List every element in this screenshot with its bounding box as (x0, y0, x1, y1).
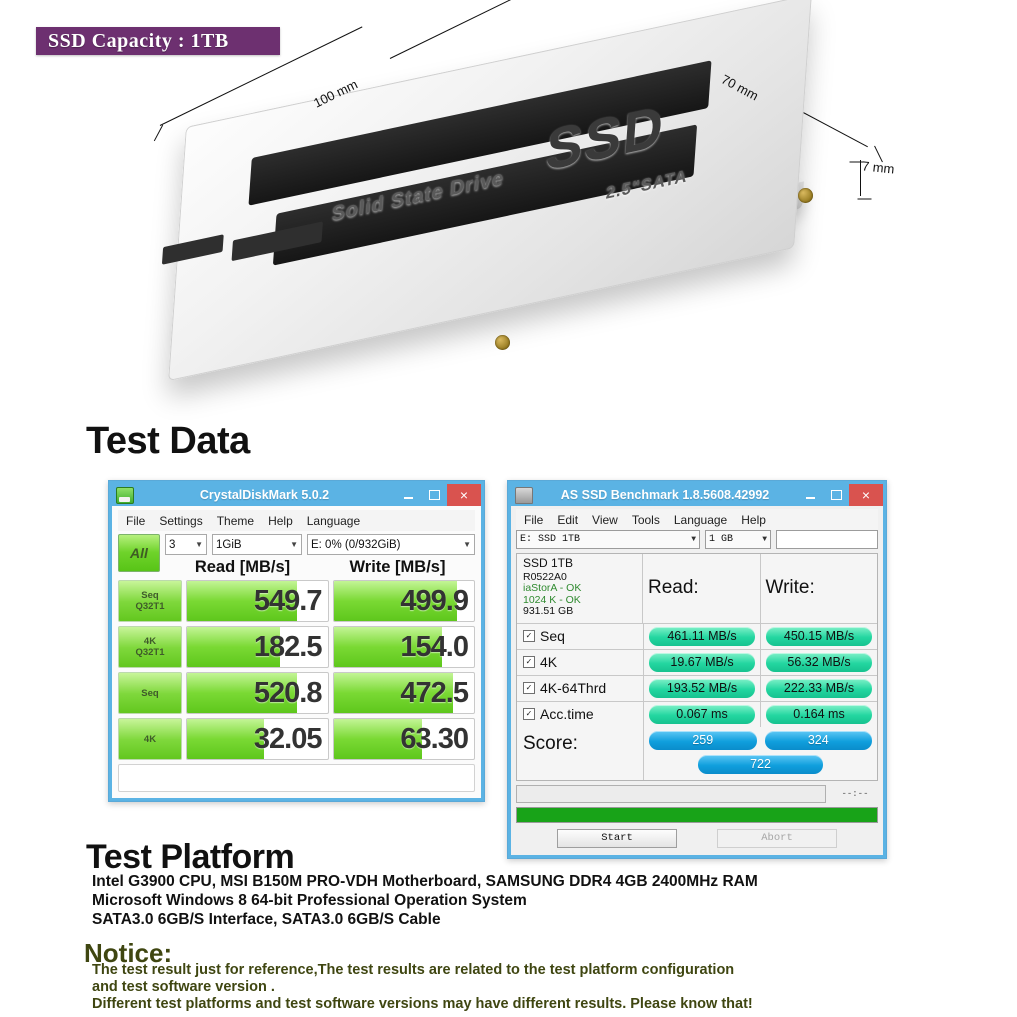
assd-write-bar: 222.33 MB/s (766, 679, 872, 698)
cdm-all-button[interactable]: All (118, 534, 160, 572)
assd-test-name: 4K (540, 654, 557, 670)
cdm-menu-language[interactable]: Language (307, 514, 360, 528)
dimension-tick-6 (858, 199, 872, 200)
assd-footer: --:-- (516, 785, 878, 803)
cdm-minimize-icon[interactable] (395, 484, 421, 506)
product-detail-page: SSD Capacity : 1TB Solid State Drive SSD… (0, 0, 1017, 1017)
cdm-window-buttons: × (395, 484, 481, 506)
cdm-runs-value: 3 (169, 539, 175, 551)
assd-window-frame: AS SSD Benchmark 1.8.5608.42992 × File E… (508, 481, 886, 858)
cdm-size-value: 1GiB (216, 539, 242, 551)
crystaldiskmark-icon (116, 487, 134, 504)
platform-line: Microsoft Windows 8 64-bit Professional … (92, 891, 972, 910)
cdm-test-name: 4K (144, 636, 156, 647)
cdm-write-value-cell: 472.5 (333, 672, 476, 714)
cdm-write-value: 63.30 (400, 723, 468, 756)
assd-write-cell: 0.164 ms (761, 702, 877, 727)
assd-write-bar: 56.32 MB/s (766, 653, 872, 672)
assd-controls-row: E: SSD 1TB ▼ 1 GB ▼ (516, 530, 878, 549)
assd-body: File Edit View Tools Language Help E: SS… (511, 506, 883, 855)
cdm-window-frame: CrystalDiskMark 5.0.2 × File Settings Th… (109, 481, 484, 801)
assd-write-cell: 450.15 MB/s (761, 624, 877, 649)
assd-titlebar[interactable]: AS SSD Benchmark 1.8.5608.42992 × (511, 484, 883, 506)
cdm-maximize-icon[interactable] (421, 484, 447, 506)
assd-menu-file[interactable]: File (524, 513, 543, 527)
cdm-write-value: 154.0 (400, 631, 468, 664)
cdm-result-row: Seq520.8472.5 (118, 672, 475, 714)
assd-drive-info: SSD 1TB R0522A0 iaStorA - OK 1024 K - OK… (517, 554, 643, 623)
assd-write-cell: 56.32 MB/s (761, 650, 877, 675)
assd-menu-edit[interactable]: Edit (557, 513, 578, 527)
cdm-read-value-cell: 182.5 (186, 626, 329, 668)
cdm-result-row: 4KQ32T1182.5154.0 (118, 626, 475, 668)
assd-elapsed-time: --:-- (832, 789, 878, 799)
assd-write-bar: 0.164 ms (766, 705, 872, 724)
assd-write-column-header: Write: (761, 554, 878, 623)
cdm-test-queue: Q32T1 (135, 647, 164, 658)
assd-maximize-icon[interactable] (823, 484, 849, 506)
assd-menu-help[interactable]: Help (741, 513, 766, 527)
cdm-runs-select[interactable]: 3 ▼ (165, 534, 207, 555)
cdm-controls-row: All 3 ▼ 1GiB ▼ E: 0% (118, 534, 475, 577)
notice-line: Different test platforms and test softwa… (92, 996, 972, 1013)
cdm-write-value-cell: 499.9 (333, 580, 476, 622)
product-photo: Solid State Drive SSD 2.5"SATA 100 mm 70… (0, 0, 1017, 400)
cdm-read-fill (187, 719, 264, 759)
assd-test-checkbox[interactable]: ✓ (523, 630, 535, 642)
as-ssd-benchmark-icon (515, 487, 533, 504)
cdm-result-row: SeqQ32T1549.7499.9 (118, 580, 475, 622)
as-ssd-benchmark-window[interactable]: AS SSD Benchmark 1.8.5608.42992 × File E… (507, 480, 887, 859)
assd-drive-select[interactable]: E: SSD 1TB ▼ (516, 530, 700, 549)
cdm-test-name: Seq (141, 590, 158, 601)
cdm-read-value-cell: 32.05 (186, 718, 329, 760)
cdm-test-queue: Q32T1 (135, 601, 164, 612)
assd-abort-button: Abort (717, 829, 837, 848)
assd-read-bar: 193.52 MB/s (649, 679, 755, 698)
assd-score-total: 722 (698, 755, 823, 774)
assd-score-write: 324 (765, 731, 873, 750)
cdm-read-value: 549.7 (254, 585, 322, 618)
cdm-test-button[interactable]: Seq (118, 672, 182, 714)
chevron-down-icon: ▼ (290, 540, 298, 549)
cdm-result-row: 4K32.0563.30 (118, 718, 475, 760)
assd-result-row: ✓4K-64Thrd193.52 MB/s222.33 MB/s (517, 676, 877, 702)
assd-menu-tools[interactable]: Tools (632, 513, 660, 527)
assd-read-label: Read: (648, 577, 699, 599)
cdm-write-value: 472.5 (400, 677, 468, 710)
cdm-menubar[interactable]: File Settings Theme Help Language (118, 510, 475, 531)
assd-read-cell: 0.067 ms (644, 702, 761, 727)
chevron-down-icon: ▼ (463, 540, 471, 549)
assd-result-row: ✓Acc.time0.067 ms0.164 ms (517, 702, 877, 727)
assd-size-select[interactable]: 1 GB ▼ (705, 530, 771, 549)
assd-test-checkbox[interactable]: ✓ (523, 656, 535, 668)
assd-info-capacity: 931.51 GB (523, 606, 637, 618)
cdm-menu-settings[interactable]: Settings (159, 514, 202, 528)
assd-test-label: ✓4K-64Thrd (517, 676, 644, 701)
platform-line: SATA3.0 6GB/S Interface, SATA3.0 6GB/S C… (92, 910, 972, 929)
cdm-titlebar[interactable]: CrystalDiskMark 5.0.2 × (112, 484, 481, 506)
cdm-drive-value: E: 0% (0/932GiB) (311, 539, 400, 551)
assd-status-bar (516, 785, 826, 803)
ssd-screw-front (495, 335, 510, 350)
cdm-selects: 3 ▼ 1GiB ▼ E: 0% (0/932GiB) ▼ (165, 534, 475, 555)
chevron-down-icon: ▼ (195, 540, 203, 549)
cdm-write-value-cell: 63.30 (333, 718, 476, 760)
dimension-line-height (860, 160, 861, 196)
assd-window-buttons: × (797, 484, 883, 506)
assd-test-checkbox[interactable]: ✓ (523, 708, 535, 720)
test-data-heading: Test Data (86, 420, 250, 463)
assd-info-driver: iaStorA - OK (523, 583, 637, 595)
cdm-test-name: Seq (141, 688, 158, 699)
cdm-test-name: 4K (144, 734, 156, 745)
assd-action-buttons: Start Abort (516, 829, 878, 850)
cdm-menu-file[interactable]: File (126, 514, 145, 528)
cdm-title: CrystalDiskMark 5.0.2 (134, 488, 395, 502)
cdm-read-value: 520.8 (254, 677, 322, 710)
cdm-test-button[interactable]: SeqQ32T1 (118, 580, 182, 622)
assd-menu-language[interactable]: Language (674, 513, 727, 527)
cdm-test-button[interactable]: 4K (118, 718, 182, 760)
crystaldiskmark-window[interactable]: CrystalDiskMark 5.0.2 × File Settings Th… (108, 480, 485, 802)
cdm-menu-help[interactable]: Help (268, 514, 293, 528)
cdm-body: File Settings Theme Help Language All 3 … (112, 506, 481, 798)
assd-minimize-icon[interactable] (797, 484, 823, 506)
assd-score-label: Score: (517, 727, 644, 780)
assd-progress-bar (516, 807, 878, 823)
assd-score-read: 259 (649, 731, 757, 750)
assd-read-bar: 0.067 ms (649, 705, 755, 724)
cdm-read-header: Read [MB/s] (165, 558, 320, 577)
assd-test-label: ✓Seq (517, 624, 644, 649)
cdm-drive-select[interactable]: E: 0% (0/932GiB) ▼ (307, 534, 475, 555)
assd-write-cell: 222.33 MB/s (761, 676, 877, 701)
ssd-screw-right (798, 188, 813, 203)
cdm-write-value-cell: 154.0 (333, 626, 476, 668)
cdm-column-headers: Read [MB/s] Write [MB/s] (165, 558, 475, 577)
assd-read-bar: 461.11 MB/s (649, 627, 755, 646)
assd-test-name: Seq (540, 628, 565, 644)
notice-line: The test result just for reference,The t… (92, 962, 972, 979)
cdm-menu-theme[interactable]: Theme (217, 514, 254, 528)
assd-results-grid: SSD 1TB R0522A0 iaStorA - OK 1024 K - OK… (516, 553, 878, 781)
assd-name-input[interactable] (776, 530, 878, 549)
assd-close-icon[interactable]: × (849, 484, 883, 506)
assd-size-value: 1 GB (709, 534, 733, 545)
cdm-status-bar (118, 764, 475, 792)
assd-read-column-header: Read: (643, 554, 761, 623)
assd-test-label: ✓4K (517, 650, 644, 675)
assd-header-row: SSD 1TB R0522A0 iaStorA - OK 1024 K - OK… (517, 554, 877, 624)
assd-read-cell: 193.52 MB/s (644, 676, 761, 701)
assd-test-label: ✓Acc.time (517, 702, 644, 727)
chevron-down-icon: ▼ (762, 535, 767, 544)
cdm-test-button[interactable]: 4KQ32T1 (118, 626, 182, 668)
ssd-drive-illustration: Solid State Drive SSD 2.5"SATA 100 mm 70… (150, 10, 880, 390)
notice-line: and test software version . (92, 979, 972, 996)
assd-test-name: 4K-64Thrd (540, 680, 606, 696)
assd-start-button[interactable]: Start (557, 829, 677, 848)
assd-write-bar: 450.15 MB/s (766, 627, 872, 646)
assd-write-label: Write: (766, 577, 815, 599)
cdm-read-value-cell: 520.8 (186, 672, 329, 714)
assd-score-bottom: 722 (649, 755, 872, 774)
assd-info-model: SSD 1TB (523, 558, 637, 570)
platform-line: Intel G3900 CPU, MSI B150M PRO-VDH Mothe… (92, 872, 972, 891)
cdm-close-icon[interactable]: × (447, 484, 481, 506)
assd-read-bar: 19.67 MB/s (649, 653, 755, 672)
cdm-read-value-cell: 549.7 (186, 580, 329, 622)
assd-test-name: Acc.time (540, 706, 594, 722)
assd-read-cell: 19.67 MB/s (644, 650, 761, 675)
assd-menu-view[interactable]: View (592, 513, 618, 527)
assd-score-row: Score: 259 324 722 (517, 727, 877, 780)
assd-score-values: 259 324 722 (644, 727, 877, 780)
assd-result-row: ✓4K19.67 MB/s56.32 MB/s (517, 650, 877, 676)
notice-details: The test result just for reference,The t… (92, 962, 972, 1013)
sata-power-slot (162, 234, 224, 265)
cdm-size-select[interactable]: 1GiB ▼ (212, 534, 302, 555)
chevron-down-icon: ▼ (691, 535, 696, 544)
cdm-write-header: Write [MB/s] (320, 558, 475, 577)
assd-test-checkbox[interactable]: ✓ (523, 682, 535, 694)
assd-result-row: ✓Seq461.11 MB/s450.15 MB/s (517, 624, 877, 650)
assd-title: AS SSD Benchmark 1.8.5608.42992 (533, 488, 797, 502)
assd-menubar[interactable]: File Edit View Tools Language Help (516, 509, 878, 530)
cdm-results-table: SeqQ32T1549.7499.94KQ32T1182.5154.0Seq52… (118, 580, 475, 760)
assd-read-cell: 461.11 MB/s (644, 624, 761, 649)
cdm-write-value: 499.9 (400, 585, 468, 618)
test-platform-details: Intel G3900 CPU, MSI B150M PRO-VDH Mothe… (92, 872, 972, 929)
dimension-label-height: 7 mm (861, 158, 895, 176)
cdm-read-value: 32.05 (254, 723, 322, 756)
dimension-tick-1 (154, 125, 163, 141)
assd-score-top: 259 324 (649, 731, 872, 750)
assd-test-rows: ✓Seq461.11 MB/s450.15 MB/s✓4K19.67 MB/s5… (517, 624, 877, 727)
assd-drive-value: E: SSD 1TB (520, 534, 580, 545)
cdm-read-value: 182.5 (254, 631, 322, 664)
